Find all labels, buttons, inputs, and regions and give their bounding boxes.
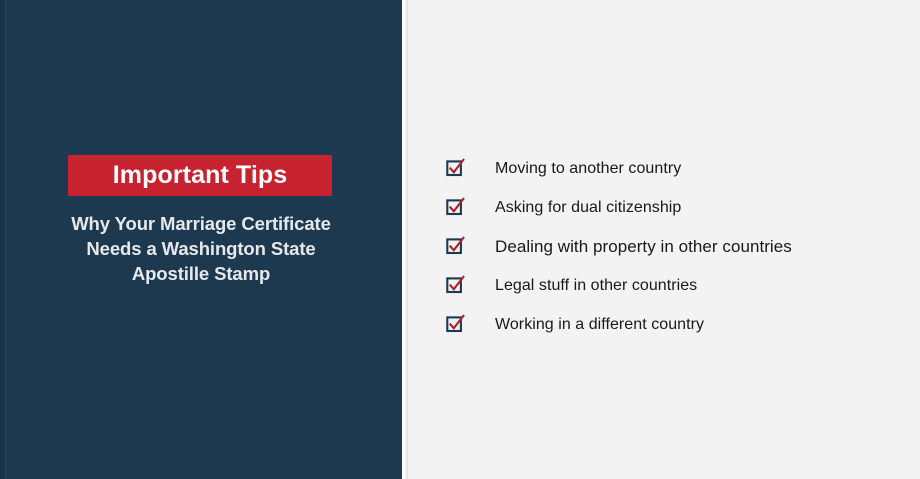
checklist: Moving to another country Asking for dua… <box>446 149 792 344</box>
list-item-label: Asking for dual citizenship <box>495 198 681 218</box>
list-item-label: Moving to another country <box>495 159 681 179</box>
list-item: Legal stuff in other countries <box>446 266 792 305</box>
right-checklist-panel: Moving to another country Asking for dua… <box>408 0 920 479</box>
page-title-line-2: Needs a Washington State <box>35 236 367 261</box>
list-item: Working in a different country <box>446 305 792 344</box>
checkbox-checked-icon <box>446 238 464 256</box>
checkbox-checked-icon <box>446 160 464 178</box>
important-tips-badge: Important Tips <box>68 155 332 196</box>
list-item-label: Dealing with property in other countries <box>495 237 792 257</box>
checkbox-checked-icon <box>446 316 464 334</box>
left-title-panel: Important Tips Why Your Marriage Certifi… <box>0 0 402 479</box>
page-title-line-3: Apostille Stamp <box>35 261 367 286</box>
list-item-label: Working in a different country <box>495 315 704 335</box>
checkbox-checked-icon <box>446 199 464 217</box>
page-title-line-1: Why Your Marriage Certificate <box>35 211 367 236</box>
left-panel-content: Important Tips Why Your Marriage Certifi… <box>0 155 402 286</box>
infographic-root: Important Tips Why Your Marriage Certifi… <box>0 0 920 479</box>
list-item: Asking for dual citizenship <box>446 188 792 227</box>
list-item: Moving to another country <box>446 149 792 188</box>
checkbox-checked-icon <box>446 277 464 295</box>
list-item: Dealing with property in other countries <box>446 227 792 266</box>
list-item-label: Legal stuff in other countries <box>495 276 697 296</box>
page-title: Why Your Marriage Certificate Needs a Wa… <box>0 211 402 286</box>
